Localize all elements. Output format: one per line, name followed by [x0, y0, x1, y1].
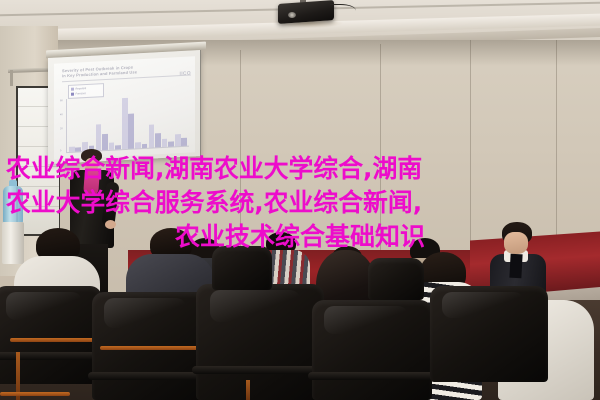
bar-group — [149, 94, 161, 148]
rail-bracket — [10, 70, 13, 86]
chart-plot-area: 60 40 20 0 — [66, 93, 189, 153]
man-face — [504, 232, 528, 254]
projector-icon — [278, 0, 334, 24]
bar-group — [175, 93, 187, 147]
presenter-hand — [105, 220, 116, 229]
legend-swatch — [71, 88, 74, 91]
bar — [135, 142, 141, 148]
chair[interactable] — [368, 258, 424, 300]
wall-panel-seam — [556, 40, 557, 240]
slide: Severity of Pest Outbreak in Crops in Ke… — [54, 56, 195, 159]
bar-group — [162, 93, 174, 147]
bar — [96, 124, 102, 151]
y-tick-label: 0 — [60, 149, 61, 152]
man-lapel — [509, 254, 522, 279]
chair-highlight — [210, 290, 300, 322]
y-tick-label: 60 — [60, 99, 63, 102]
legend-label: Forecast — [76, 92, 86, 96]
chair-frame — [0, 392, 70, 396]
chair-highlight — [442, 292, 524, 318]
bar-group — [82, 98, 94, 152]
chair[interactable] — [212, 246, 272, 290]
chair-highlight — [6, 292, 82, 320]
bar-group — [135, 95, 147, 149]
bar — [109, 142, 115, 149]
bar — [162, 139, 168, 147]
screenshot-root: Severity of Pest Outbreak in Crops in Ke… — [0, 0, 600, 400]
bar — [175, 134, 181, 147]
bar-group — [122, 95, 134, 149]
wall-panel-seam — [470, 40, 471, 270]
legend-swatch — [71, 93, 74, 96]
bar — [181, 138, 187, 146]
chair-leg — [246, 380, 250, 400]
bar — [102, 134, 108, 150]
bar — [155, 133, 161, 147]
projector-lens-icon — [288, 12, 296, 18]
bar — [128, 113, 134, 149]
bar — [142, 143, 148, 148]
chair-armrest — [308, 372, 434, 380]
chair-highlight — [104, 298, 186, 328]
bar — [149, 124, 155, 147]
projection-screen: Severity of Pest Outbreak in Crops in Ke… — [48, 50, 201, 164]
bar — [122, 98, 128, 150]
chair-frame — [10, 338, 102, 342]
bar — [168, 141, 174, 147]
chair-frame — [100, 346, 204, 350]
chart-bars — [69, 93, 187, 152]
water-cooler-bottle — [3, 186, 23, 224]
wall-panel-seam — [380, 44, 381, 274]
y-tick-label: 40 — [60, 113, 63, 116]
bar-group — [69, 98, 81, 152]
presenter-scarf — [83, 170, 100, 197]
bar-group — [109, 96, 121, 150]
chair-highlight — [324, 306, 408, 334]
legend-label: Reported — [76, 87, 87, 91]
projector-cable — [330, 4, 356, 15]
bar-group — [96, 97, 108, 151]
chair-armrest — [192, 366, 326, 374]
bar — [115, 145, 121, 150]
y-tick-label: 20 — [60, 127, 63, 130]
